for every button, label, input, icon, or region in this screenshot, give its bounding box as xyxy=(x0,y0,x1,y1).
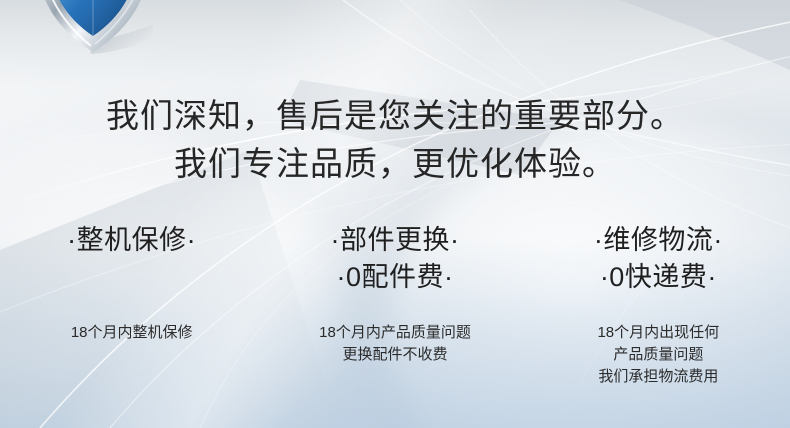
banner-content: 我们深知，售后是您关注的重要部分。 我们专注品质，更优化体验。 ·整机保修· 1… xyxy=(0,0,790,428)
headline-line-1: 我们深知，售后是您关注的重要部分。 xyxy=(0,92,790,140)
column-title-line: ·维修物流· xyxy=(533,222,784,259)
column-description: 18个月内出现任何 产品质量问题 我们承担物流费用 xyxy=(533,322,784,388)
headline-line-2: 我们专注品质，更优化体验。 xyxy=(0,140,790,188)
column-description-line: 产品质量问题 xyxy=(533,344,784,366)
column-description-line: 18个月内出现任何 xyxy=(533,322,784,344)
column-description-line: 18个月内整机保修 xyxy=(6,322,257,344)
column-title-line: ·整机保修· xyxy=(6,222,257,259)
headline: 我们深知，售后是您关注的重要部分。 我们专注品质，更优化体验。 xyxy=(0,92,790,188)
column-title-line: ·部件更换· xyxy=(269,222,520,259)
service-column-warranty: ·整机保修· 18个月内整机保修 xyxy=(0,222,263,388)
column-description: 18个月内整机保修 xyxy=(6,322,257,344)
after-sales-service-banner: 我们深知，售后是您关注的重要部分。 我们专注品质，更优化体验。 ·整机保修· 1… xyxy=(0,0,790,428)
column-description: 18个月内产品质量问题 更换配件不收费 xyxy=(269,322,520,366)
column-title-line: ·0快递费· xyxy=(533,259,784,296)
service-column-logistics: ·维修物流· ·0快递费· 18个月内出现任何 产品质量问题 我们承担物流费用 xyxy=(527,222,790,388)
column-title-line: ·0配件费· xyxy=(269,259,520,296)
service-column-parts: ·部件更换· ·0配件费· 18个月内产品质量问题 更换配件不收费 xyxy=(263,222,526,388)
column-description-line: 更换配件不收费 xyxy=(269,344,520,366)
column-description-line: 18个月内产品质量问题 xyxy=(269,322,520,344)
column-description-line: 我们承担物流费用 xyxy=(533,366,784,388)
service-columns: ·整机保修· 18个月内整机保修 ·部件更换· ·0配件费· 18个月内产品质量… xyxy=(0,222,790,388)
